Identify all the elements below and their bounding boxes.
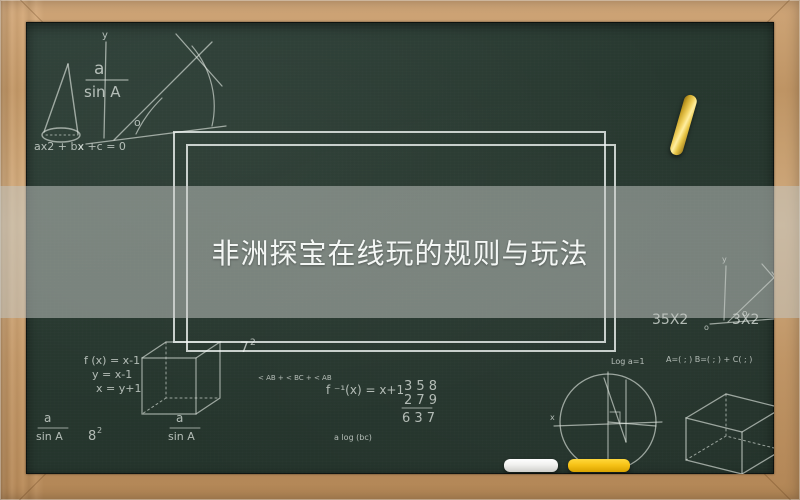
chalk-label-y-left: y <box>102 30 108 41</box>
chalk-text-sina-1: sin A <box>84 83 121 101</box>
fx-equations: f (x) = x-1 y = x-1 x = y+1 <box>84 354 141 395</box>
svg-text:a: a <box>176 411 183 425</box>
cube-drawing-left <box>142 342 220 414</box>
circle-diagram: x <box>550 372 662 470</box>
svg-text:8: 8 <box>88 429 96 444</box>
chalk-text-a-1: a <box>94 59 104 79</box>
svg-text:x = y+1: x = y+1 <box>96 382 141 395</box>
svg-text:o: o <box>704 323 709 332</box>
cube-drawing-right <box>686 394 774 474</box>
yellow-chalk-piece <box>568 459 630 472</box>
chalk-text-log-bc: a log (bc) <box>334 433 372 442</box>
page-title: 非洲探宝在线玩的规则与玩法 <box>0 186 800 318</box>
chalk-text-inverse-f: f ⁻¹(x) = x+1 <box>326 383 404 397</box>
chalk-label-theta-left: o <box>134 116 141 129</box>
svg-text:2 7 9: 2 7 9 <box>404 393 437 408</box>
svg-text:sin A: sin A <box>36 430 63 443</box>
chalk-label-x-left: x <box>78 142 84 153</box>
svg-text:y = x-1: y = x-1 <box>92 368 132 381</box>
chalk-digit-grid: 3 5 8 2 7 9 6 3 7 <box>402 379 437 426</box>
svg-text:x: x <box>550 413 555 422</box>
svg-text:2: 2 <box>97 426 102 435</box>
chalk-text-abc-small: < AB + < BC + < AB <box>258 374 332 382</box>
chalk-text-matrix: A=( ; ) B=( ; ) + C( ; ) <box>666 355 752 364</box>
white-chalk-piece <box>504 459 558 472</box>
chalk-text-log-a1: Log a=1 <box>611 357 645 366</box>
svg-text:3 5 8: 3 5 8 <box>404 379 437 394</box>
svg-text:f (x) = x-1: f (x) = x-1 <box>84 354 140 367</box>
svg-text:a: a <box>44 411 51 425</box>
svg-text:6 3 7: 6 3 7 <box>402 411 435 426</box>
cone-drawing <box>42 64 80 142</box>
blackboard-banner: a sin A ax2 + bx +c = 0 y x o <box>0 0 800 500</box>
svg-text:sin A: sin A <box>168 430 195 443</box>
